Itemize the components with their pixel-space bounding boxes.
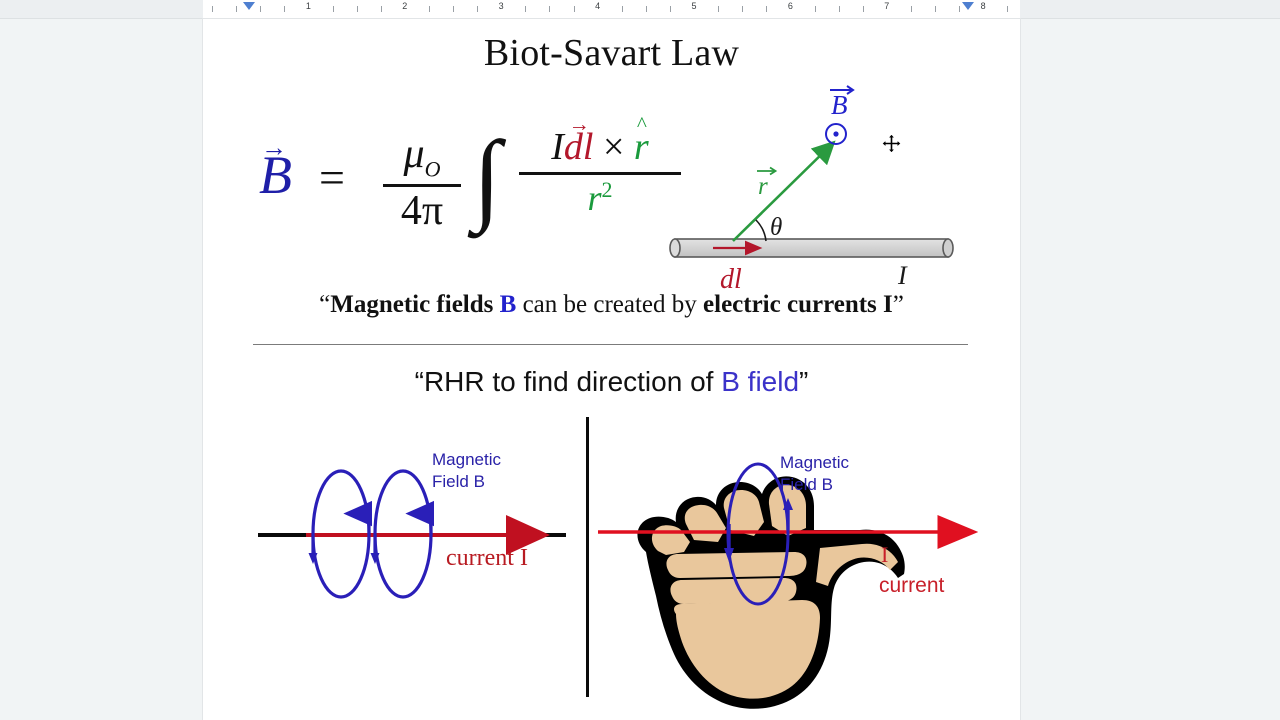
dl-vector-symbol: →dl [564, 127, 594, 169]
ruler-tick [670, 6, 671, 12]
svg-text:r: r [758, 173, 768, 200]
quote2-open: “ [415, 366, 424, 397]
svg-text:B: B [831, 90, 848, 120]
equation-lhs-b: B [259, 144, 292, 206]
magnetic-field-label-left: Magnetic Field B [432, 449, 501, 493]
ruler-number: 5 [691, 1, 696, 11]
horizontal-ruler[interactable]: 12345678 [0, 0, 1280, 19]
ruler-tick [333, 6, 334, 12]
wire-field-diagram: B r θ dl I [658, 69, 988, 294]
wire-cylinder [670, 239, 953, 257]
ruler-tick [646, 6, 647, 12]
ruler-track[interactable]: 12345678 [203, 0, 1020, 18]
theta-label: θ [770, 214, 782, 241]
current-label-left: current I [446, 545, 528, 572]
quote1-part3: electric currents I [703, 291, 893, 318]
ruler-tick [935, 6, 936, 12]
mu0-over-4pi-fraction: μO 4π [381, 133, 463, 233]
integrand-denominator: r2 [519, 178, 681, 218]
integrand-numerator: I→dl × ^r [519, 127, 681, 169]
quote2-close: ” [799, 366, 808, 397]
ruler-tick [429, 6, 430, 12]
equation-equals-sign: = [319, 151, 345, 204]
four-pi-denominator: 4π [381, 189, 463, 233]
integrand-fraction: I→dl × ^r r2 [519, 127, 681, 218]
current-label-right: current [879, 574, 944, 598]
current-I-label-right: I [881, 542, 888, 568]
quote1-open: “ [319, 291, 330, 318]
ruler-tick [284, 6, 285, 12]
mu-zero-numerator: μO [381, 133, 463, 180]
ruler-tick [574, 6, 575, 12]
vertical-divider [586, 417, 589, 697]
ruler-tick [863, 6, 864, 12]
quote-rhr: “RHR to find direction of B field” [203, 366, 1020, 398]
ruler-tick [260, 6, 261, 12]
quote-magnetic-fields: “Magnetic fields B can be created by ele… [203, 291, 1020, 319]
wire-diagram-svg: B r θ dl I [658, 69, 988, 294]
ruler-tick [381, 6, 382, 12]
ruler-tick [766, 6, 767, 12]
quote1-close: ” [893, 291, 904, 318]
ruler-tick [622, 6, 623, 12]
wire-field-loops-diagram: Magnetic Field B current I [248, 427, 578, 627]
document-page[interactable]: Biot-Savart Law → B = μO 4π ∫ I→dl × ^r [203, 19, 1020, 720]
ruler-number: 8 [981, 1, 986, 11]
ruler-tick [742, 6, 743, 12]
ruler-number: 4 [595, 1, 600, 11]
biot-savart-equation: → B = μO 4π ∫ I→dl × ^r r2 [251, 111, 681, 236]
field-loops-svg [248, 427, 578, 627]
ruler-tick [453, 6, 454, 12]
ruler-tick [1007, 6, 1008, 12]
right-hand-rule-diagram: Magnetic Field B I current [598, 424, 998, 719]
ruler-number: 3 [499, 1, 504, 11]
ruler-tick [839, 6, 840, 12]
theta-angle-arc [756, 220, 766, 241]
current-label-top: I [897, 261, 908, 290]
ruler-tick [477, 6, 478, 12]
ruler-tick [549, 6, 550, 12]
right-hand-illustration [637, 476, 904, 708]
b-vector-label: B [830, 86, 853, 120]
ruler-tick [815, 6, 816, 12]
quote2-b-field: B field [721, 366, 799, 397]
ruler-tick [718, 6, 719, 12]
left-indent-marker[interactable] [243, 2, 255, 10]
fraction-bar-1 [383, 184, 461, 187]
ruler-number: 1 [306, 1, 311, 11]
quote1-part2: can be created by [516, 291, 703, 318]
quote2-part1: RHR to find direction of [424, 366, 721, 397]
ruler-tick [911, 6, 912, 12]
ruler-tick [236, 6, 237, 12]
ruler-number: 2 [402, 1, 407, 11]
current-I-symbol: I [551, 126, 564, 168]
magnetic-field-label-right: Magnetic Field B [780, 452, 849, 496]
r-vector-label: r [757, 168, 776, 201]
right-indent-marker[interactable] [962, 2, 974, 10]
r-hat-symbol: ^r [634, 127, 649, 169]
integral-sign: ∫ [473, 119, 501, 236]
ruler-tick [357, 6, 358, 12]
quote1-part1: Magnetic fields [330, 291, 499, 318]
dl-label: dl [720, 264, 742, 294]
ruler-tick [959, 6, 960, 12]
ruler-number: 7 [884, 1, 889, 11]
section-divider [253, 344, 968, 345]
ruler-number: 6 [788, 1, 793, 11]
fraction-bar-2 [519, 172, 681, 175]
ruler-tick [525, 6, 526, 12]
ruler-tick [212, 6, 213, 12]
cross-product-symbol: × [603, 126, 624, 168]
quote1-b-symbol: B [500, 291, 517, 318]
b-field-out-of-page-icon [826, 124, 846, 144]
document-editor-window: 12345678 Biot-Savart Law → B = μO 4π ∫ I… [0, 0, 1280, 720]
